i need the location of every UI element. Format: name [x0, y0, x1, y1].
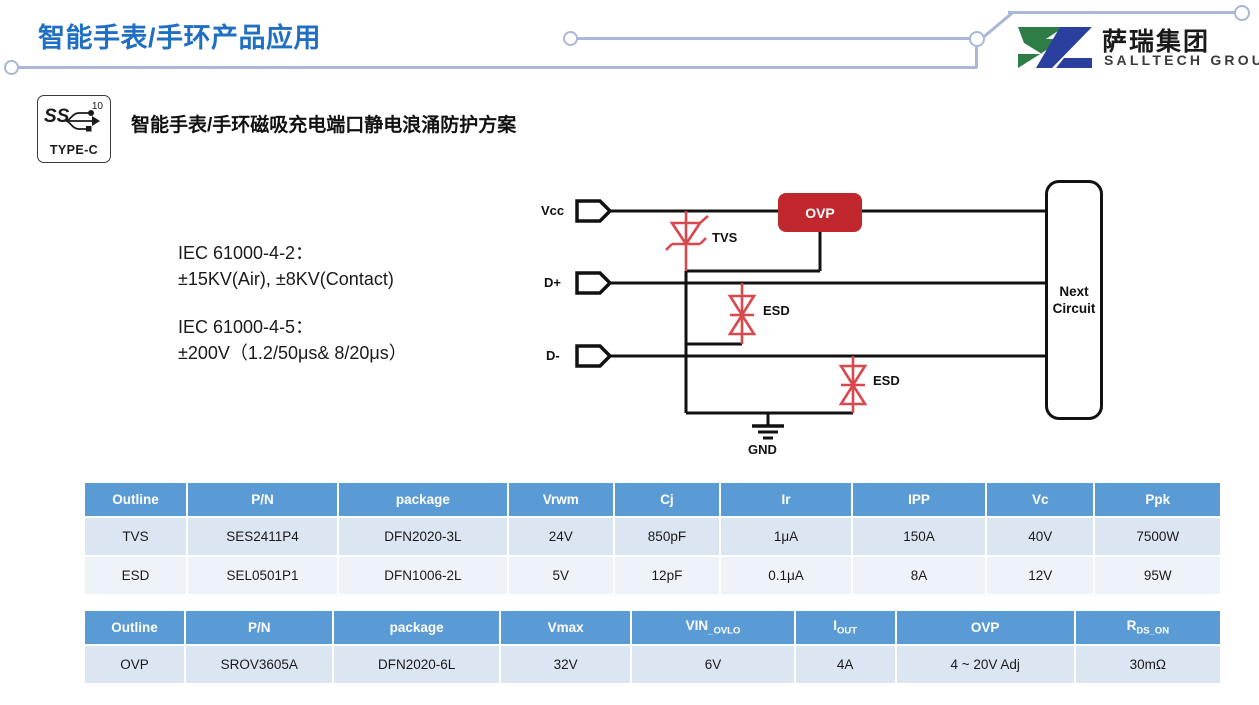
tvs-label: TVS: [712, 230, 737, 245]
port-label-dplus: D+: [544, 275, 561, 290]
logo-english-name: SALLTECH GROUP: [1104, 52, 1259, 68]
col-header-r-main: R: [1127, 618, 1137, 633]
ovp-parameter-table: Outline P/N package Vmax VIN_OVLO IOUT O…: [85, 611, 1220, 685]
cell: SEL0501P1: [187, 556, 338, 595]
next-circuit-block: Next Circuit: [1045, 180, 1103, 420]
table-row: TVS SES2411P4 DFN2020-3L 24V 850pF 1μA 1…: [85, 517, 1220, 556]
section-subtitle: 智能手表/手环磁吸充电端口静电浪涌防护方案: [131, 110, 516, 137]
col-header-package: package: [338, 483, 507, 517]
cell: 7500W: [1094, 517, 1220, 556]
cell: 5V: [508, 556, 614, 595]
col-header-rdson: RDS_ON: [1075, 611, 1220, 645]
cell: 8A: [852, 556, 986, 595]
type-c-badge: SS 10 TYPE-C: [37, 95, 111, 163]
deco-line-left: [18, 66, 977, 69]
spec-line-2: ±15KV(Air), ±8KV(Contact): [178, 266, 407, 292]
col-header-package: package: [333, 611, 499, 645]
deco-line-topright: [1008, 11, 1237, 14]
col-header-ppk: Ppk: [1094, 483, 1220, 517]
cell: TVS: [85, 517, 187, 556]
type-c-label: TYPE-C: [38, 143, 110, 157]
gnd-label: GND: [748, 442, 777, 457]
esd-label-2: ESD: [873, 373, 900, 388]
col-header-pn: P/N: [185, 611, 333, 645]
tvs-esd-parameter-table: Outline P/N package Vrwm Cj Ir IPP Vc Pp…: [85, 483, 1220, 596]
cell: 30mΩ: [1075, 645, 1220, 684]
cell: 850pF: [614, 517, 720, 556]
deco-diagonal: [982, 12, 1013, 39]
cell: 1μA: [720, 517, 852, 556]
deco-line-mid: [577, 37, 970, 40]
cell: OVP: [85, 645, 185, 684]
cell: DFN1006-2L: [338, 556, 507, 595]
col-header-vin-main: VIN: [686, 618, 709, 633]
col-header-vin-sub: _OVLO: [708, 626, 740, 637]
cell: 24V: [508, 517, 614, 556]
cell: 6V: [631, 645, 794, 684]
col-header-r-sub: DS_ON: [1136, 626, 1169, 637]
cell: ESD: [85, 556, 187, 595]
cell: SES2411P4: [187, 517, 338, 556]
deco-circle-junction: [969, 31, 985, 47]
cell: DFN2020-3L: [338, 517, 507, 556]
deco-circle-mid: [563, 31, 578, 46]
cell: 0.1μA: [720, 556, 852, 595]
col-header-pn: P/N: [187, 483, 338, 517]
salltech-logo-mark-icon: [1016, 25, 1094, 70]
spec-gap: [178, 292, 407, 314]
usb-speed-label: 10: [92, 101, 103, 112]
col-header-vmax: Vmax: [500, 611, 632, 645]
col-header-ir: Ir: [720, 483, 852, 517]
table-header-row: Outline P/N package Vrwm Cj Ir IPP Vc Pp…: [85, 483, 1220, 517]
circuit-diagram: Vcc D+ D- TVS ESD ESD GND OVP Next Circu…: [520, 168, 1140, 468]
col-header-vrwm: Vrwm: [508, 483, 614, 517]
deco-circle-topright: [1234, 5, 1250, 21]
page-title: 智能手表/手环产品应用: [38, 16, 321, 55]
cell: SROV3605A: [185, 645, 333, 684]
cell: 40V: [986, 517, 1094, 556]
port-label-dminus: D-: [546, 348, 560, 363]
table-header-row: Outline P/N package Vmax VIN_OVLO IOUT O…: [85, 611, 1220, 645]
esd-label-1: ESD: [763, 303, 790, 318]
cell: 12pF: [614, 556, 720, 595]
col-header-ovp: OVP: [896, 611, 1075, 645]
col-header-vc: Vc: [986, 483, 1094, 517]
cell: DFN2020-6L: [333, 645, 499, 684]
col-header-vin-ovlo: VIN_OVLO: [631, 611, 794, 645]
iec-spec-block: IEC 61000-4-2： ±15KV(Air), ±8KV(Contact)…: [178, 240, 407, 366]
col-header-ipp: IPP: [852, 483, 986, 517]
cell: 150A: [852, 517, 986, 556]
spec-line-1: IEC 61000-4-2：: [178, 240, 407, 266]
deco-circle-left: [4, 60, 19, 75]
col-header-cj: Cj: [614, 483, 720, 517]
cell: 4 ~ 20V Adj: [896, 645, 1075, 684]
ovp-label: OVP: [805, 205, 835, 221]
brand-logo: 萨瑞集团 SALLTECH GROUP: [1016, 22, 1246, 74]
cell: 12V: [986, 556, 1094, 595]
cell: 32V: [500, 645, 632, 684]
col-header-outline: Outline: [85, 611, 185, 645]
col-header-iout: IOUT: [795, 611, 896, 645]
port-label-vcc: Vcc: [541, 203, 564, 218]
cell: 4A: [795, 645, 896, 684]
cell: 95W: [1094, 556, 1220, 595]
table-row: ESD SEL0501P1 DFN1006-2L 5V 12pF 0.1μA 8…: [85, 556, 1220, 595]
col-header-i-sub: OUT: [837, 626, 857, 637]
spec-line-3: IEC 61000-4-5：: [178, 314, 407, 340]
table-row: OVP SROV3605A DFN2020-6L 32V 6V 4A 4 ~ 2…: [85, 645, 1220, 684]
next-circuit-line-2: Circuit: [1053, 301, 1096, 316]
page-header: 智能手表/手环产品应用 萨瑞集团 SALLTECH GROUP: [0, 0, 1259, 90]
next-circuit-line-1: Next: [1059, 284, 1088, 299]
ovp-block: OVP: [778, 193, 862, 232]
spec-line-4: ±200V（1.2/50μs& 8/20μs）: [178, 340, 407, 366]
col-header-outline: Outline: [85, 483, 187, 517]
